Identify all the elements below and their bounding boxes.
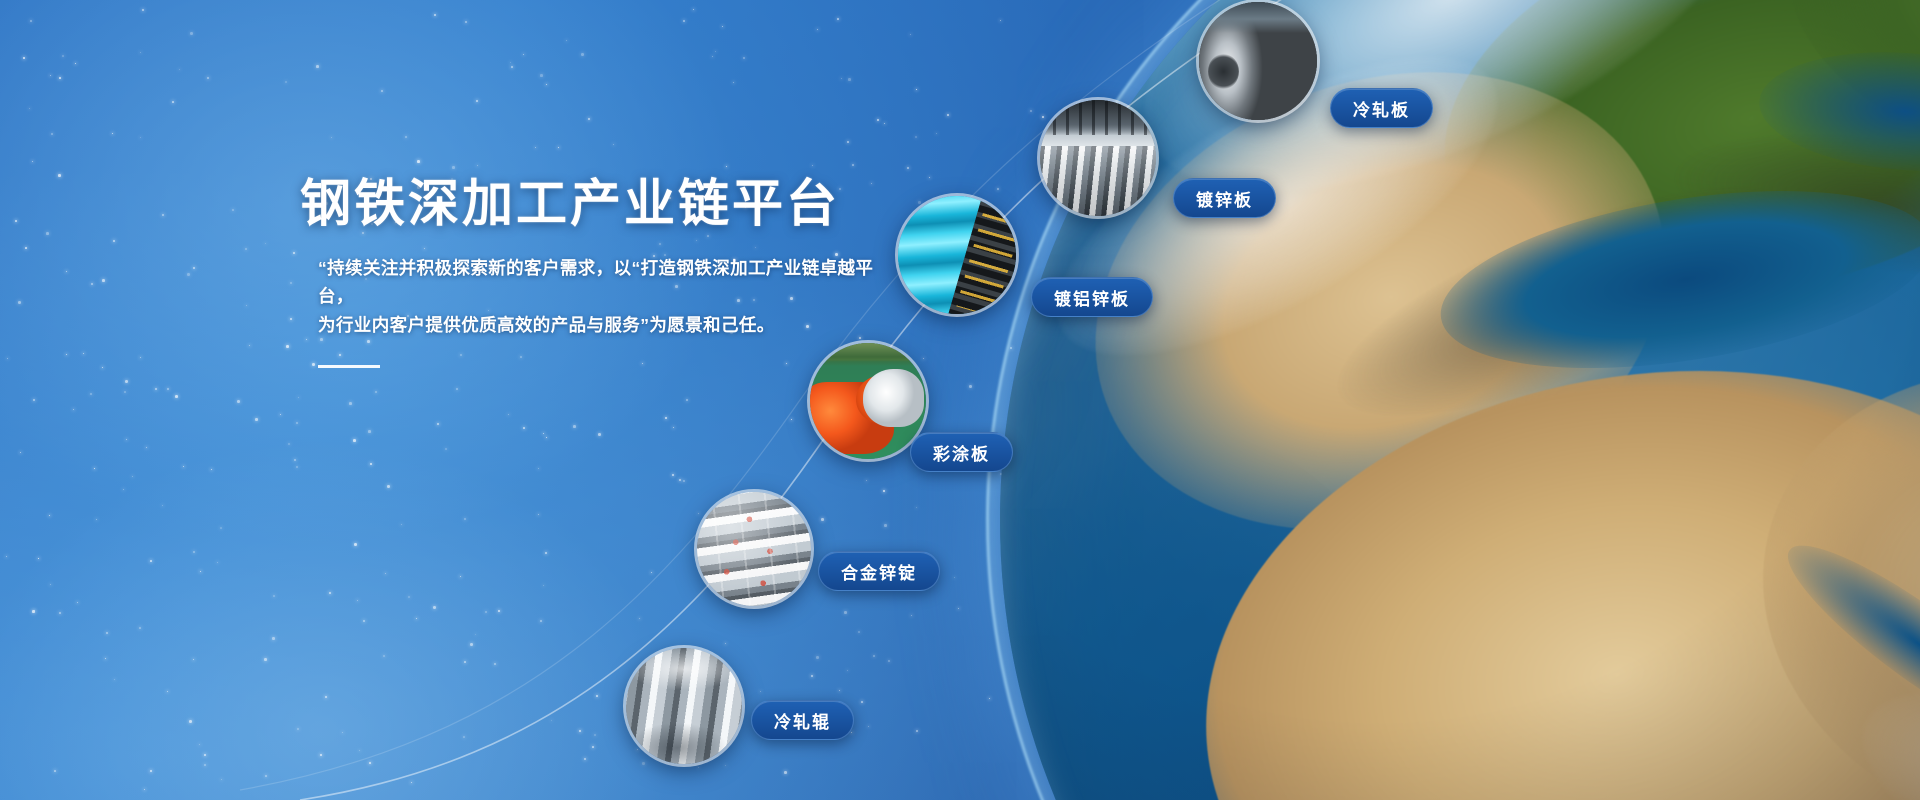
connecting-path <box>0 0 1920 800</box>
earth-cloud-band-1 <box>1087 0 1819 273</box>
earth-land-europe <box>1402 0 1920 362</box>
earth-land-eurasia <box>1772 0 1920 199</box>
product-label-aluzinc-sheet[interactable]: 镀铝锌板 <box>1031 277 1153 317</box>
earth-cloud-band-5 <box>1830 643 1920 800</box>
product-thumbnail-cold-rolled-sheet[interactable] <box>1199 2 1317 120</box>
product-label-zinc-alloy-ingot[interactable]: 合金锌锭 <box>818 551 940 591</box>
product-label-color-coated-sheet[interactable]: 彩涂板 <box>910 432 1013 472</box>
product-thumbnail-color-coated-sheet[interactable] <box>810 343 926 459</box>
product-thumbnail-galvanized-sheet[interactable] <box>1040 100 1156 216</box>
page-title: 钢铁深加工产业链平台 <box>300 176 920 232</box>
product-label-cold-rolling-roll[interactable]: 冷轧辊 <box>751 700 854 740</box>
product-thumbnail-aluzinc-sheet[interactable] <box>898 196 1016 314</box>
earth-mountain-ridge-alps <box>1312 140 1827 461</box>
earth-land-sahara <box>1164 314 1920 800</box>
hero-copy: 钢铁深加工产业链平台 “持续关注并积极探索新的客户需求，以“打造钢铁深加工产业链… <box>300 176 920 368</box>
hero-banner: 钢铁深加工产业链平台 “持续关注并积极探索新的客户需求，以“打造钢铁深加工产业链… <box>0 0 1920 800</box>
product-label-cold-rolled-sheet[interactable]: 冷轧板 <box>1330 88 1433 128</box>
earth-red-sea <box>1768 520 1920 768</box>
earth-atlantic <box>1000 432 1438 800</box>
product-image-rolls <box>626 648 742 764</box>
product-image-warehouse <box>1040 100 1156 216</box>
page-subtitle-line-2: 为行业内客户提供优质高效的产品与服务”为愿景和己任。 <box>318 311 888 339</box>
earth-land-arabia <box>1706 303 1920 800</box>
earth-land-subsahara <box>1360 778 1920 800</box>
page-subtitle-line-1: “持续关注并积极探索新的客户需求，以“打造钢铁深加工产业链卓越平台， <box>318 254 888 311</box>
product-thumbnail-zinc-alloy-ingot[interactable] <box>697 492 811 606</box>
divider-rule <box>318 365 380 368</box>
product-image-ingot <box>697 492 811 606</box>
earth-mountain-ridge-caucasus <box>1665 111 1920 302</box>
background-glow-bottom <box>0 420 700 800</box>
product-label-galvanized-sheet[interactable]: 镀锌板 <box>1173 178 1276 218</box>
earth-black-sea <box>1755 43 1920 180</box>
starfield <box>0 0 1920 800</box>
earth-mediterranean-sea <box>1428 161 1920 397</box>
product-image-bluecoil <box>898 196 1016 314</box>
product-image-coils <box>1199 2 1317 120</box>
product-thumbnail-cold-rolling-roll[interactable] <box>626 648 742 764</box>
page-subtitle: “持续关注并积极探索新的客户需求，以“打造钢铁深加工产业链卓越平台， 为行业内客… <box>318 254 888 339</box>
product-image-orange <box>810 343 926 459</box>
